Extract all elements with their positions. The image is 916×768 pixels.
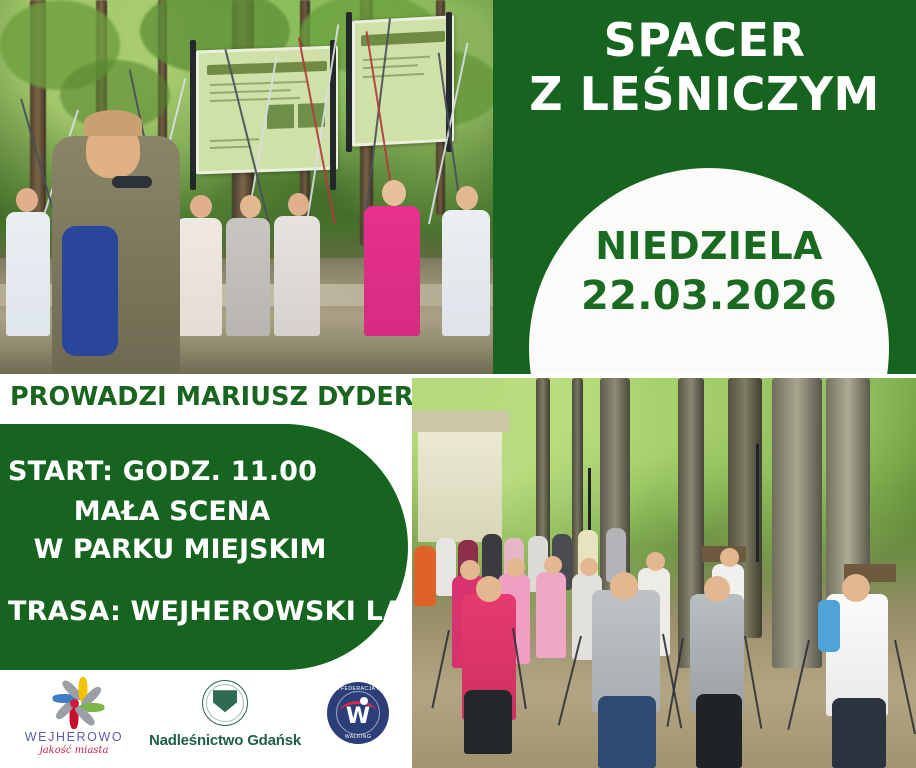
badge-monogram: W	[346, 706, 370, 728]
event-details-body: START: GODZ. 11.00 MAŁA SCENA W PARKU MI…	[0, 424, 370, 670]
title-line-2: Z LEŚNICZYM	[493, 68, 916, 122]
presenter-line: PROWADZI MARIUSZ DYDERSKI	[10, 382, 410, 416]
photo-top-nordic-walking-group	[0, 0, 493, 374]
event-date: 22.03.2026	[529, 271, 889, 322]
star-burst-icon	[37, 678, 111, 728]
badge-caption-bottom: WALKING	[345, 734, 372, 740]
forest-shield-icon	[202, 680, 248, 726]
badge-caption-top: POLSKA FEDERACJA NORDIC	[316, 686, 400, 692]
date-block: NIEDZIELA 22.03.2026	[529, 222, 889, 322]
logo-wejherowo[interactable]: WEJHEROWO jakość miasta	[14, 678, 134, 756]
logo-wejherowo-name: WEJHEROWO	[14, 730, 134, 744]
start-time-line: START: GODZ. 11.00	[8, 456, 317, 487]
nordic-walking-badge-icon: POLSKA FEDERACJA NORDIC W WALKING	[327, 682, 389, 744]
logo-wejherowo-tagline: jakość miasta	[14, 745, 134, 756]
walker-front-center	[592, 590, 660, 712]
venue-line-2: W PARKU MIEJSKIM	[0, 534, 360, 565]
title-line-1: SPACER	[493, 14, 916, 68]
header-green-panel: SPACER Z LEŚNICZYM NIEDZIELA 22.03.2026	[493, 0, 916, 374]
chapel-building	[418, 424, 502, 542]
logo-nadlesnictwo-name: Nadleśnictwo Gdańsk	[140, 732, 310, 749]
event-details-panel: START: GODZ. 11.00 MAŁA SCENA W PARKU MI…	[0, 424, 408, 670]
poster-root: SPACER Z LEŚNICZYM NIEDZIELA 22.03.2026 …	[0, 0, 916, 768]
sponsor-logo-strip: WEJHEROWO jakość miasta Nadleśnictwo Gda…	[0, 672, 412, 768]
venue-line-1: MAŁA SCENA	[0, 496, 344, 527]
poster-title: SPACER Z LEŚNICZYM	[493, 14, 916, 122]
event-day: NIEDZIELA	[529, 222, 889, 271]
logo-nadlesnictwo-gdansk[interactable]: Nadleśnictwo Gdańsk	[140, 680, 310, 749]
route-line: TRASA: WEJHEROWSKI LAS	[8, 596, 424, 627]
star-center-dot	[70, 699, 79, 708]
photo-bottom-forest-march	[412, 378, 916, 768]
logo-polska-federacja-nordic-walking[interactable]: POLSKA FEDERACJA NORDIC W WALKING	[312, 682, 404, 744]
